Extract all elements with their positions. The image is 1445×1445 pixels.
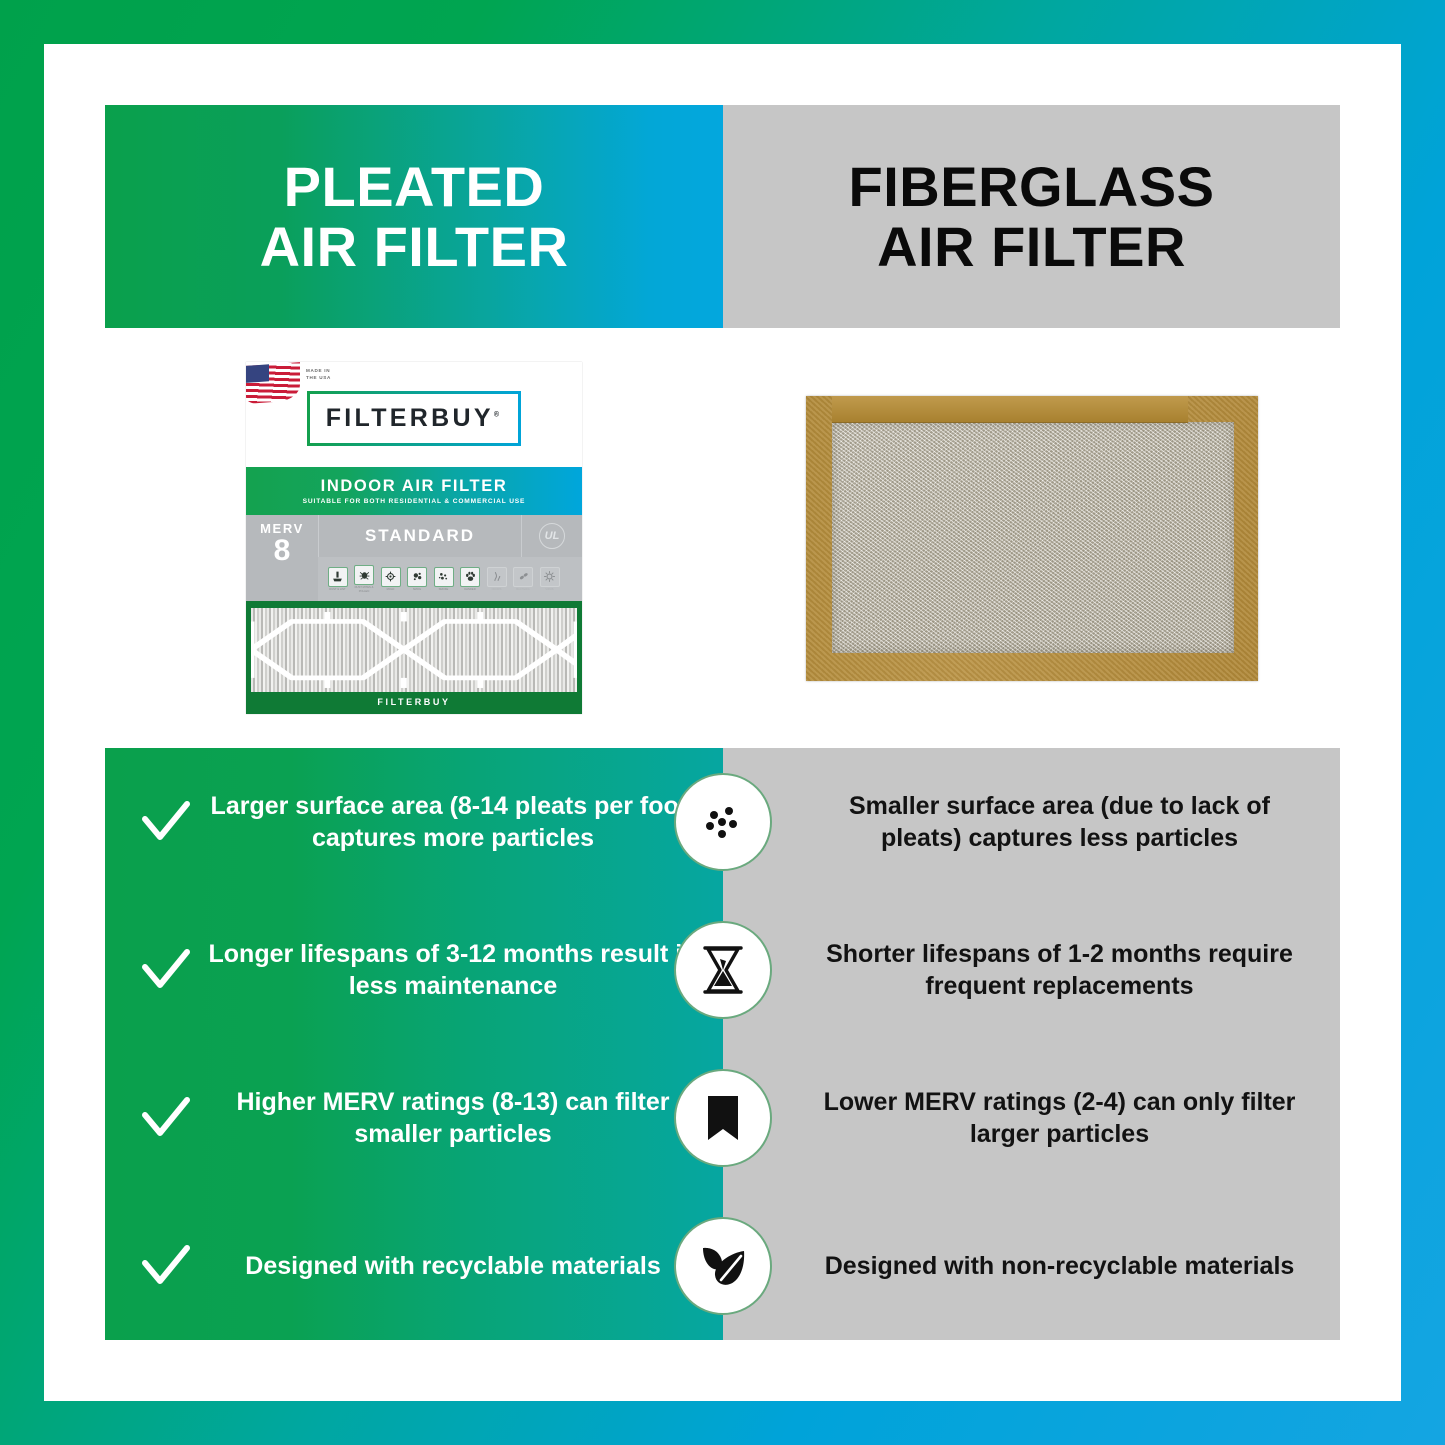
product-spec-area: MERV 8 STANDARD UL	[246, 515, 582, 601]
pleated-filter-image-cell: MADE IN THE USA FILTERBUY® INDOOR AIR FI…	[105, 328, 723, 748]
comparison-row: Larger surface area (8-14 pleats per foo…	[105, 748, 1340, 896]
fiberglass-media	[832, 422, 1234, 653]
row-right-text: Smaller surface area (due to lack of ple…	[819, 790, 1300, 854]
product-footer-brand: FILTERBUY	[251, 692, 577, 712]
row-left-pleated: Higher MERV ratings (8-13) can filter sm…	[105, 1044, 723, 1192]
odors-icon	[487, 567, 507, 587]
infographic-page: PLEATED AIR FILTER FIBERGLASS AIR FILTER	[0, 0, 1445, 1445]
usa-flag-icon	[246, 362, 300, 404]
capture-icon-dust-lint: DUST & LINT	[326, 567, 349, 591]
fiberglass-filter-image-cell	[723, 328, 1340, 748]
fiberglass-filter-product	[806, 396, 1258, 681]
header-fiberglass: FIBERGLASS AIR FILTER	[723, 105, 1340, 328]
capture-icon-smoke: SMOKE	[432, 567, 455, 591]
check-icon	[135, 796, 197, 848]
leaf-icon	[674, 1217, 772, 1315]
capture-icon-dust-mites: DUST MITES & POLLEN	[353, 565, 376, 592]
capture-icon-dander: DANDER	[459, 567, 482, 591]
row-left-pleated: Longer lifespans of 3-12 months result i…	[105, 896, 723, 1044]
product-spec-top: MERV 8 STANDARD UL	[246, 515, 582, 557]
row-right-fiberglass: Designed with non-recyclable materials	[723, 1192, 1340, 1340]
row-left-text: Designed with recyclable materials	[197, 1250, 709, 1282]
hourglass-icon	[674, 921, 772, 1019]
brand-logo-frame: FILTERBUY®	[307, 391, 522, 446]
product-logo-area: MADE IN THE USA FILTERBUY®	[246, 362, 582, 467]
comparison-row: Designed with recyclable materials Desig…	[105, 1192, 1340, 1340]
product-band: INDOOR AIR FILTER SUITABLE FOR BOTH RESI…	[246, 467, 582, 515]
header-fiberglass-line1: FIBERGLASS	[849, 155, 1215, 218]
merv-rating-block: MERV 8	[246, 515, 318, 557]
product-band-title: INDOOR AIR FILTER	[321, 477, 508, 496]
capture-icon-virus: VIRUS	[538, 567, 561, 591]
check-icon	[135, 944, 197, 996]
capture-icon-bacteria: BACTERIA	[512, 567, 535, 591]
row-left-pleated: Larger surface area (8-14 pleats per foo…	[105, 748, 723, 896]
bookmark-icon	[674, 1069, 772, 1167]
ul-certification-icon: UL	[539, 523, 565, 549]
comparison-rows: Larger surface area (8-14 pleats per foo…	[105, 748, 1340, 1340]
dust-lint-icon	[328, 567, 348, 587]
row-right-fiberglass: Smaller surface area (due to lack of ple…	[723, 748, 1340, 896]
capture-icon-strip: DUST & LINT DUST MITES & POLLEN	[318, 557, 582, 601]
capture-icon-smog: SMOG	[406, 567, 429, 591]
product-images-row: MADE IN THE USA FILTERBUY® INDOOR AIR FI…	[105, 328, 1340, 748]
row-left-pleated: Designed with recyclable materials	[105, 1192, 723, 1340]
dust-mites-pollen-icon	[354, 565, 374, 585]
pleated-media-frame: FILTERBUY	[246, 601, 582, 714]
mold-spores-icon	[381, 567, 401, 587]
row-left-text: Larger surface area (8-14 pleats per foo…	[197, 790, 709, 854]
comparison-row: Higher MERV ratings (8-13) can filter sm…	[105, 1044, 1340, 1192]
trademark-mark: ®	[494, 412, 502, 419]
header-pleated-line2: AIR FILTER	[260, 215, 569, 278]
check-icon	[135, 1092, 197, 1144]
made-in-usa-label: MADE IN THE USA	[306, 368, 331, 382]
header-pleated-title: PLEATED AIR FILTER	[260, 157, 569, 276]
virus-icon	[540, 567, 560, 587]
brand-name: FILTERBUY®	[326, 404, 503, 433]
support-grid	[251, 608, 577, 692]
capture-icon-mold: MOLD	[379, 567, 402, 591]
smog-icon	[407, 567, 427, 587]
pleated-media	[251, 608, 577, 692]
pleated-filter-product: MADE IN THE USA FILTERBUY® INDOOR AIR FI…	[246, 362, 582, 714]
row-left-text: Higher MERV ratings (8-13) can filter sm…	[197, 1086, 709, 1150]
row-left-text: Longer lifespans of 3-12 months result i…	[197, 938, 709, 1002]
check-icon	[135, 1240, 197, 1292]
header-fiberglass-line2: AIR FILTER	[877, 215, 1186, 278]
comparison-row: Longer lifespans of 3-12 months result i…	[105, 896, 1340, 1044]
header-pleated: PLEATED AIR FILTER	[105, 105, 723, 328]
product-band-subtitle: SUITABLE FOR BOTH RESIDENTIAL & COMMERCI…	[303, 498, 526, 505]
merv-value: 8	[274, 537, 291, 566]
row-right-fiberglass: Lower MERV ratings (2-4) can only filter…	[723, 1044, 1340, 1192]
bacteria-icon	[513, 567, 533, 587]
row-right-text: Lower MERV ratings (2-4) can only filter…	[819, 1086, 1300, 1150]
product-grade: STANDARD	[318, 515, 522, 557]
comparison-panel: PLEATED AIR FILTER FIBERGLASS AIR FILTER	[105, 105, 1340, 1340]
capture-icon-odors: ODORS	[485, 567, 508, 591]
header-pleated-line1: PLEATED	[284, 155, 545, 218]
pet-dander-icon	[460, 567, 480, 587]
row-right-text: Designed with non-recyclable materials	[825, 1250, 1295, 1282]
particles-icon	[674, 773, 772, 871]
smoke-icon	[434, 567, 454, 587]
row-right-text: Shorter lifespans of 1-2 months require …	[819, 938, 1300, 1002]
certification-area: UL	[522, 515, 582, 557]
header-row: PLEATED AIR FILTER FIBERGLASS AIR FILTER	[105, 105, 1340, 328]
row-right-fiberglass: Shorter lifespans of 1-2 months require …	[723, 896, 1340, 1044]
header-fiberglass-title: FIBERGLASS AIR FILTER	[849, 157, 1215, 276]
